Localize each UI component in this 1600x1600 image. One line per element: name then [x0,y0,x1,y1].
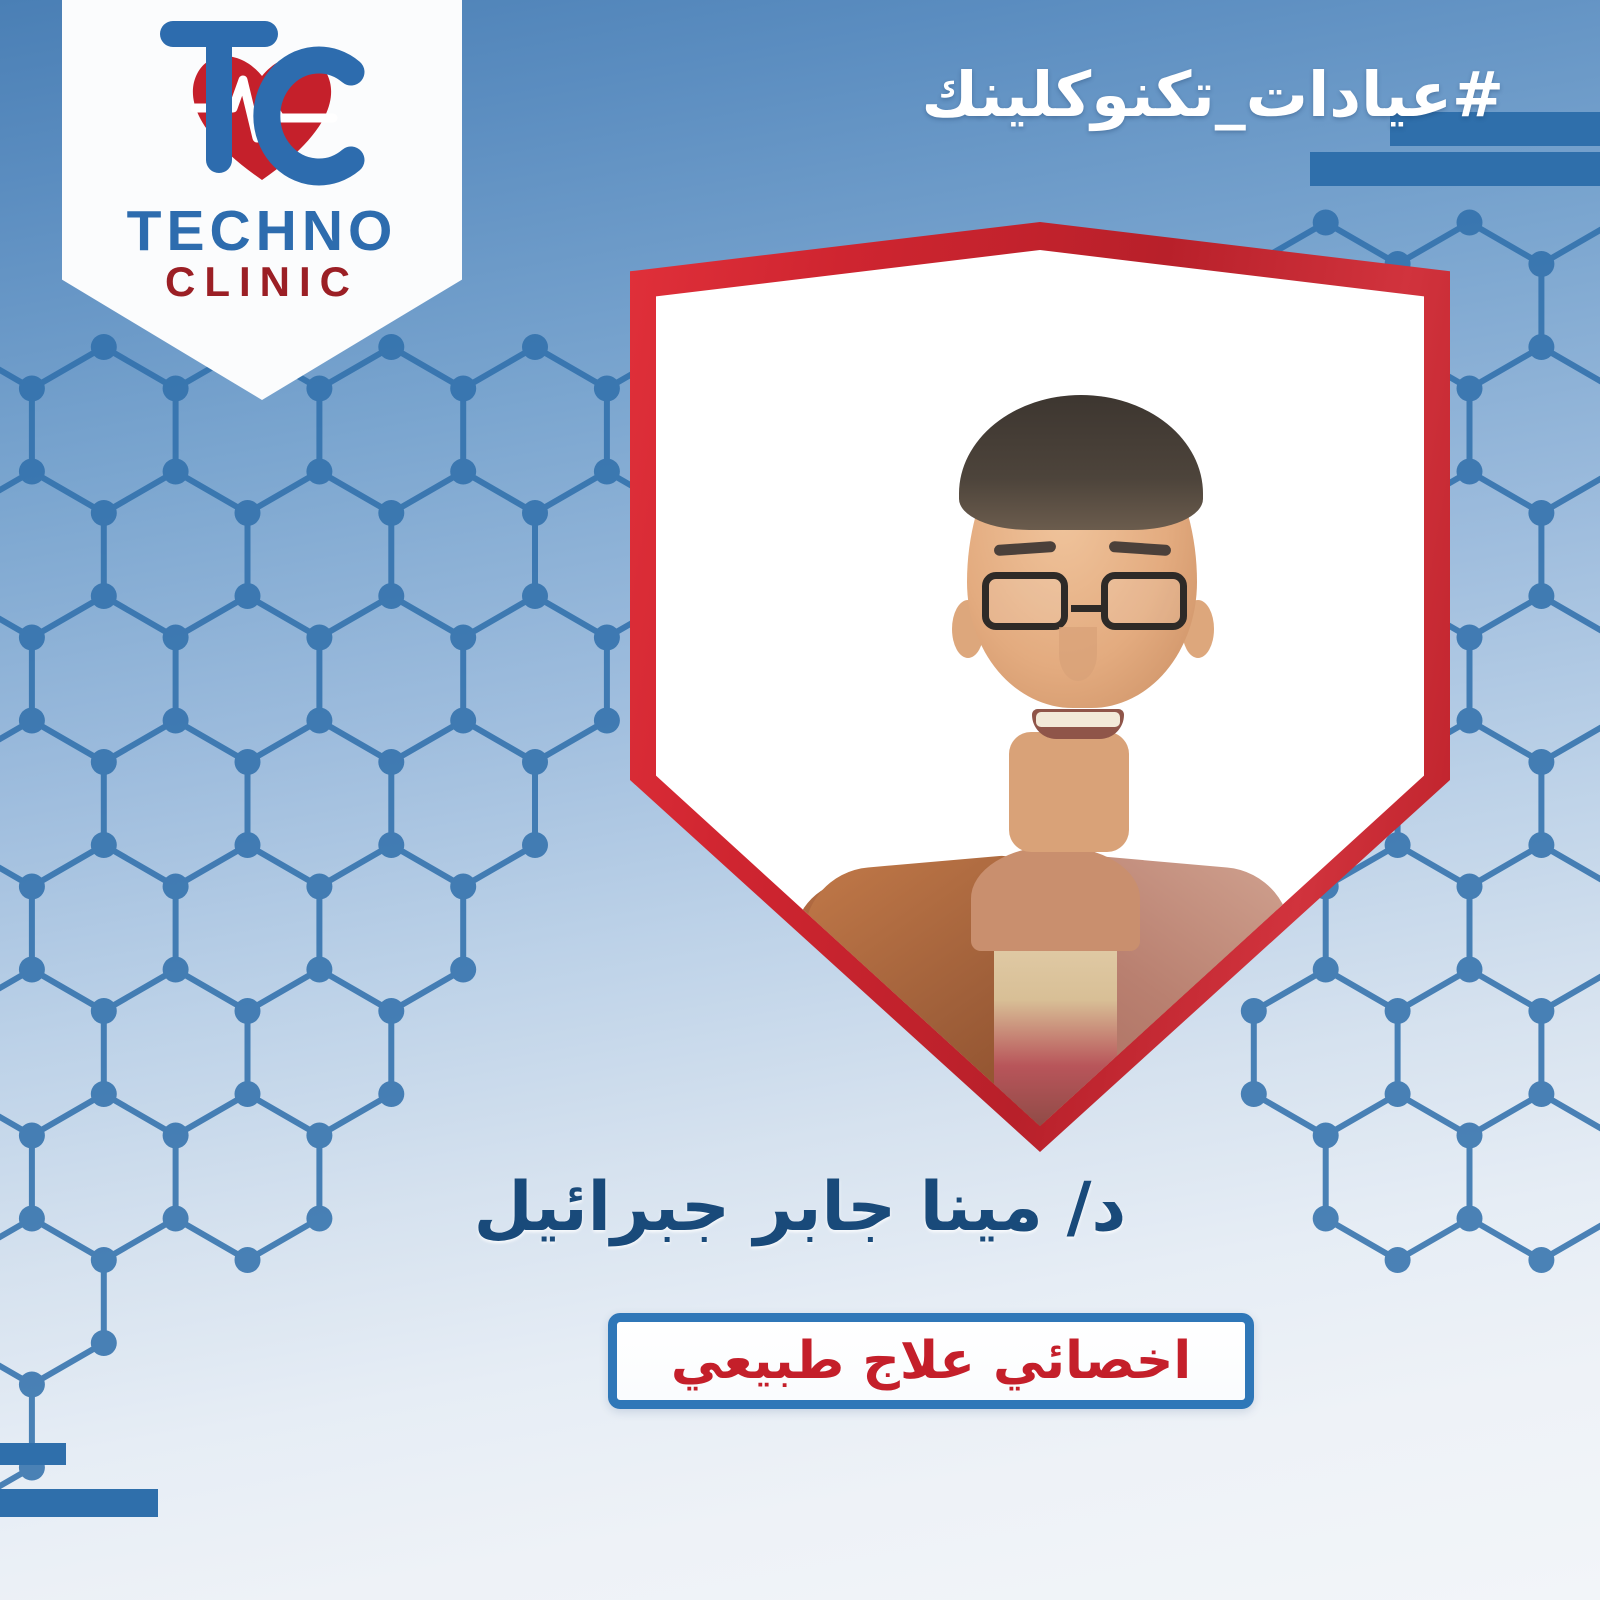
campaign-hashtag: #عيادات_تكنوكلينك [922,58,1505,131]
photo-nose [1059,627,1097,681]
photo-collar [971,846,1140,951]
decor-bar-bottom-left-1 [0,1443,66,1465]
specialty-label: اخصائي علاج طبيعي [671,1335,1191,1387]
photo-glasses-lens-right [1101,572,1187,630]
doctor-name: د/ مينا جابر جبرائيل [0,1168,1600,1247]
logo-wordmark-clinic: CLINIC [62,258,462,306]
portrait-shield-frame [630,222,1450,1152]
photo-teeth [1036,712,1120,727]
decor-bar-bottom-left-2 [0,1489,158,1517]
photo-neck [1009,732,1129,852]
heart-pulse-tc-monogram-icon [137,10,387,210]
photo-glasses-bridge [1071,605,1103,612]
logo-wordmark-techno: TECHNO [62,198,462,264]
photo-mouth [1032,709,1124,739]
shield-photo-area [656,250,1424,1126]
decor-bar-top-right-2 [1310,152,1600,186]
photo-glasses-lens-left [982,572,1068,630]
doctor-photo [656,250,1424,1126]
specialty-badge: اخصائي علاج طبيعي [608,1313,1254,1409]
photo-hair [959,395,1203,530]
